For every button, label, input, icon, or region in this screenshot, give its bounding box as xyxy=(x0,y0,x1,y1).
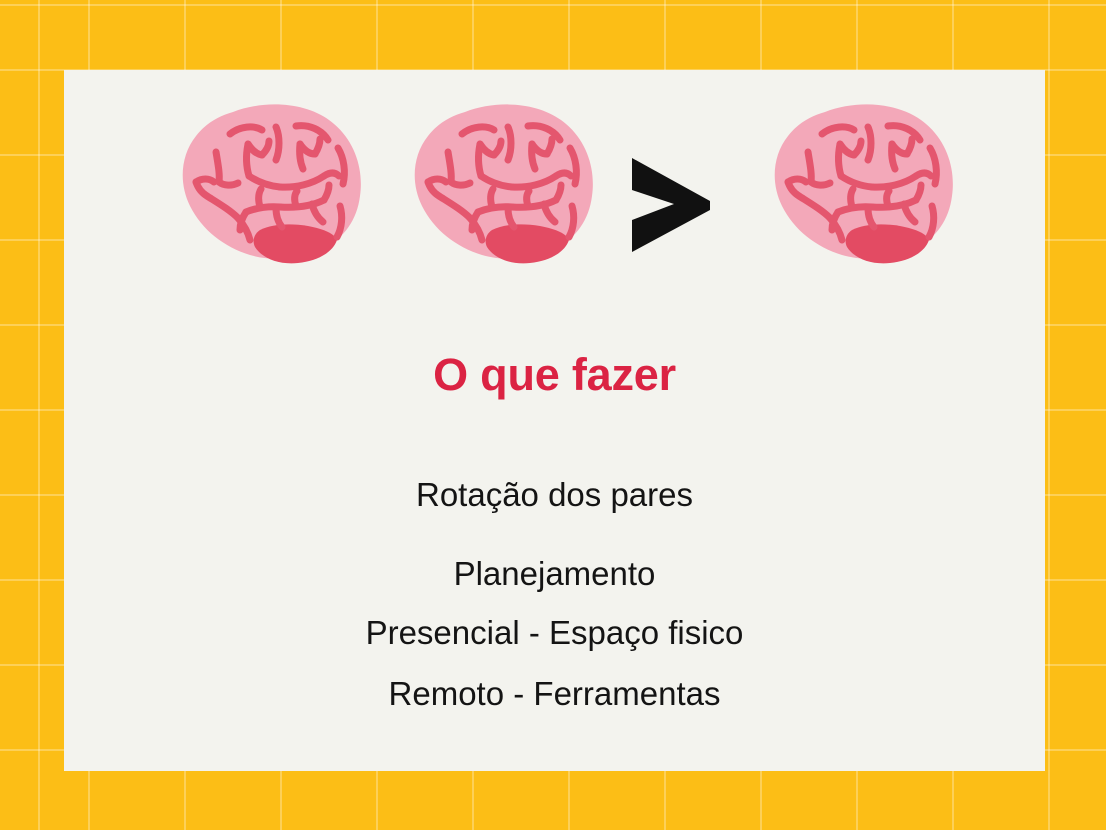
spacer xyxy=(64,590,1045,616)
brain-illustration-row xyxy=(64,86,1045,276)
brain-icon xyxy=(404,100,604,268)
slide-canvas: O que fazer Rotação dos pares Planejamen… xyxy=(0,0,1106,830)
spacer xyxy=(64,511,1045,557)
body-line-4: Remoto - Ferramentas xyxy=(64,677,1045,710)
spacer xyxy=(64,649,1045,677)
brain-icon xyxy=(172,100,372,268)
body-line-3: Presencial - Espaço fisico xyxy=(64,616,1045,649)
body-line-2: Planejamento xyxy=(64,557,1045,590)
content-card: O que fazer Rotação dos pares Planejamen… xyxy=(64,70,1045,771)
body-text-block: Rotação dos pares Planejamento Presencia… xyxy=(64,478,1045,710)
brain-icon xyxy=(764,100,964,268)
body-line-1: Rotação dos pares xyxy=(64,478,1045,511)
page-title: O que fazer xyxy=(64,350,1045,400)
greater-than-icon xyxy=(626,154,716,254)
